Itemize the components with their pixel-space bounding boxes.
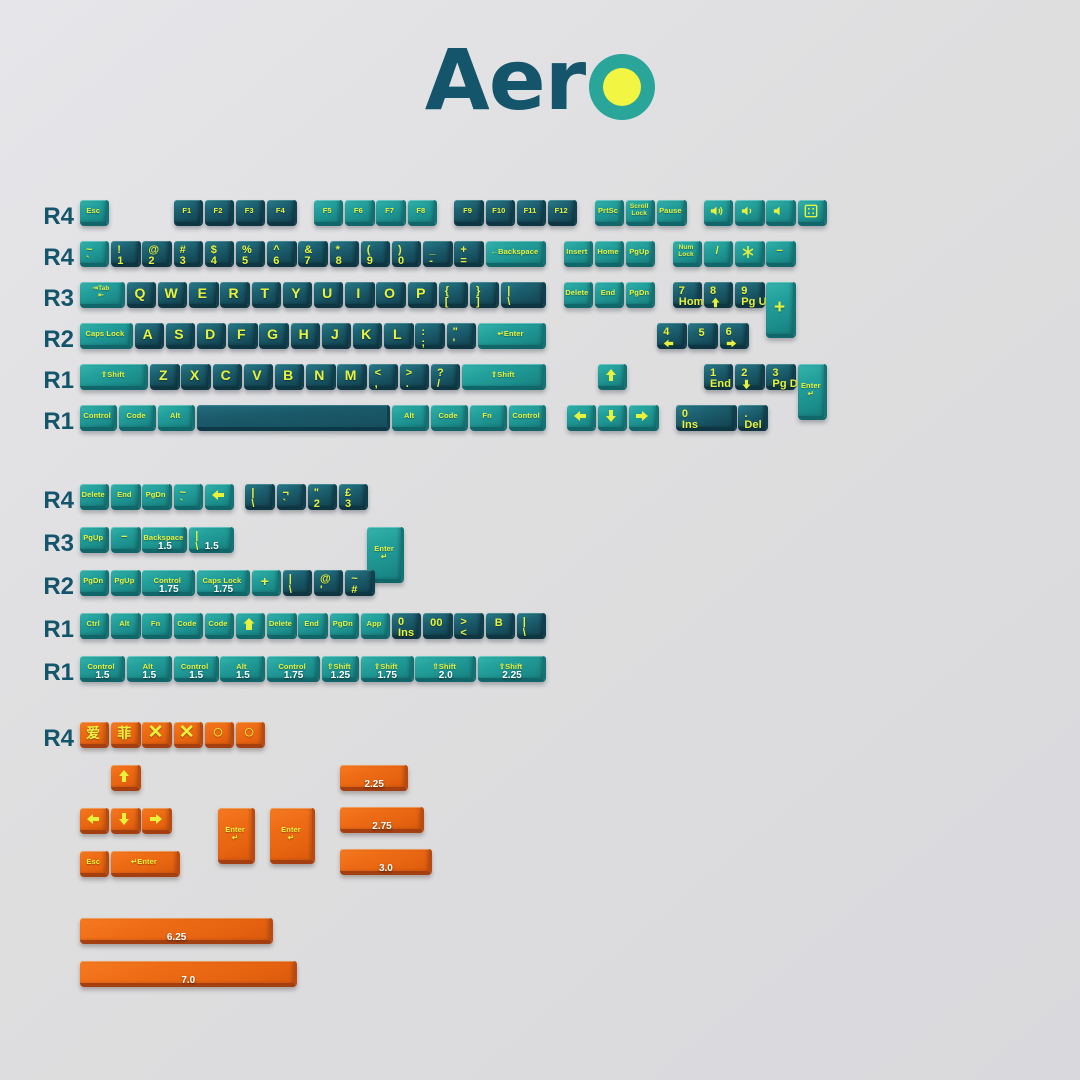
keycap-face: PgDn <box>80 570 109 596</box>
keycap-face: Alt <box>127 656 172 682</box>
key-e[interactable]: E <box>189 282 218 308</box>
key-⇧shift[interactable]: ⇧Shift2.25 <box>478 656 546 682</box>
key-enter-↵[interactable]: Enter↵ <box>798 364 827 420</box>
key-legend: Lock <box>678 252 694 259</box>
key-volume-up[interactable] <box>766 200 795 226</box>
keycap-face: + <box>252 570 281 596</box>
keycap-face: ~# <box>345 570 374 596</box>
keycap-face: 0Ins <box>392 613 421 639</box>
key-f5[interactable]: F5 <box>314 200 343 226</box>
key-fn[interactable]: Fn <box>142 613 171 639</box>
key-6[interactable]: 6 <box>720 323 749 349</box>
key-arrow-right[interactable] <box>142 808 171 834</box>
key-f7[interactable]: F7 <box>376 200 405 226</box>
key-end[interactable]: End <box>595 282 624 308</box>
key-caps-lock[interactable]: Caps Lock1.75 <box>197 570 250 596</box>
key-c[interactable]: C <box>213 364 242 390</box>
key-legend: D <box>205 327 215 341</box>
key-([interactable]: (9 <box>361 241 390 267</box>
key-2[interactable]: 2 <box>735 364 764 390</box>
key-ctrl[interactable]: Ctrl <box>80 613 109 639</box>
key-legend: Control <box>512 412 539 420</box>
keycap-face: Ctrl <box>80 613 109 639</box>
key-1[interactable]: 1End <box>704 364 733 390</box>
key-arrow-left[interactable] <box>80 808 109 834</box>
key-y[interactable]: Y <box>283 282 312 308</box>
key-arrow-left[interactable] <box>567 405 596 431</box>
key-~[interactable]: ~# <box>345 570 374 596</box>
key-{[interactable]: {[ <box>439 282 468 308</box>
key-legend: PgUp <box>114 577 134 585</box>
key-legend: End <box>117 491 131 499</box>
key-l[interactable]: L <box>384 323 413 349</box>
key-calculator[interactable] <box>798 200 827 226</box>
key-~[interactable]: ~` <box>174 484 203 510</box>
key-legend: F <box>237 327 246 341</box>
key-t[interactable]: T <box>252 282 281 308</box>
key-legend: ↵ <box>288 834 294 842</box>
key-9[interactable]: 9Pg Up <box>735 282 764 308</box>
keycap-face <box>236 613 265 639</box>
calculator-icon <box>804 204 818 218</box>
key-w[interactable]: W <box>158 282 187 308</box>
key-legend: Control <box>181 663 208 671</box>
keycap-face <box>629 405 658 431</box>
keycap-face: ←Backspace <box>486 241 547 267</box>
key-legend-bottom: # <box>351 585 366 596</box>
brand-name: Aer <box>425 38 585 122</box>
key-p[interactable]: P <box>408 282 437 308</box>
key-legend: S <box>174 327 183 341</box>
key-legend: PgUp <box>83 534 103 542</box>
key-8[interactable]: 8 <box>704 282 733 308</box>
keycap-face <box>340 765 408 791</box>
shift-up-icon <box>242 617 256 631</box>
keycap-face: (9 <box>361 241 390 267</box>
key-legend: Alt <box>170 412 180 420</box>
keycap-face: |\ <box>245 484 274 510</box>
key-z[interactable]: Z <box>150 364 179 390</box>
key-s[interactable]: S <box>166 323 195 349</box>
key-⇧shift[interactable]: ⇧Shift1.75 <box>361 656 414 682</box>
key-i[interactable]: I <box>345 282 374 308</box>
key-legend-bottom: ` <box>283 499 298 510</box>
key-control[interactable]: Control1.75 <box>142 570 195 596</box>
key-code[interactable]: Code <box>174 613 203 639</box>
key-legend: Z <box>159 368 168 382</box>
key-pgup[interactable]: PgUp <box>111 570 140 596</box>
key->[interactable]: >< <box>454 613 483 639</box>
key-$[interactable]: $4 <box>205 241 234 267</box>
key-|[interactable]: |\ <box>501 282 546 308</box>
key-x[interactable]: X <box>181 364 210 390</box>
keycap-face: ?/ <box>431 364 460 390</box>
keycap-face: _- <box>423 241 452 267</box>
key-esc[interactable]: Esc <box>80 200 109 226</box>
key-菲[interactable]: 菲 <box>111 722 140 748</box>
key-pgdn[interactable]: PgDn <box>80 570 109 596</box>
key-scroll-lock[interactable]: ScrollLock <box>626 200 655 226</box>
key-legend: ←Backspace <box>491 248 539 256</box>
key-alt[interactable]: Alt1.5 <box>127 656 172 682</box>
keycap-face: Q <box>127 282 156 308</box>
key-|[interactable]: |\ <box>245 484 274 510</box>
key-|[interactable]: |\ <box>283 570 312 596</box>
key-esc[interactable]: Esc <box>80 851 109 877</box>
key-&[interactable]: &7 <box>298 241 327 267</box>
key-legend: Lock <box>631 211 647 218</box>
key-blank[interactable]: 3.0 <box>340 849 432 875</box>
key-volume-mute[interactable] <box>704 200 733 226</box>
key-f9[interactable]: F9 <box>454 200 483 226</box>
row-label-r1: R1 <box>28 616 74 644</box>
key-legend-bottom: 0 <box>398 256 413 267</box>
keycap-face: Code <box>174 613 203 639</box>
row-label-r4: R4 <box>28 244 74 272</box>
key-%[interactable]: %5 <box>236 241 265 267</box>
key-0[interactable]: 0Ins <box>392 613 421 639</box>
key-@[interactable]: @' <box>314 570 343 596</box>
keycap-face: PgDn <box>626 282 655 308</box>
keycap-face: Code <box>205 613 234 639</box>
keycap-face: ⇥Tab⇤ <box>80 282 125 308</box>
key-f2[interactable]: F2 <box>205 200 234 226</box>
key-legend: 菲 <box>117 726 131 740</box>
key-control[interactable]: Control <box>80 405 117 431</box>
keycap-face: Alt <box>392 405 429 431</box>
key-alt[interactable]: Alt <box>392 405 429 431</box>
arrow-down-icon <box>604 409 618 423</box>
key-pgup[interactable]: PgUp <box>80 527 109 553</box>
key-legend: U <box>322 286 332 300</box>
key-blank[interactable]: 7.0 <box>80 961 297 987</box>
key-![interactable]: !1 <box>111 241 140 267</box>
key-n[interactable]: N <box>306 364 335 390</box>
key-delete[interactable]: Delete <box>564 282 593 308</box>
keycap-face: V <box>244 364 273 390</box>
keycap-face: Enter↵ <box>798 364 827 420</box>
key-arrow-right[interactable] <box>629 405 658 431</box>
key-b[interactable]: B <box>486 613 515 639</box>
key-blank[interactable] <box>197 405 390 431</box>
keycap-face: D <box>197 323 226 349</box>
key-legend: J <box>331 327 339 341</box>
key-pgdn[interactable]: PgDn <box>330 613 359 639</box>
key-g[interactable]: G <box>259 323 288 349</box>
key-5[interactable]: 5 <box>688 323 717 349</box>
key-enter-↵[interactable]: Enter↵ <box>218 808 255 864</box>
key-legend-bottom: ; <box>421 338 436 349</box>
keycap-face: ^6 <box>267 241 296 267</box>
key-⇧shift[interactable]: ⇧Shift1.25 <box>322 656 359 682</box>
key-爱[interactable]: 爱 <box>80 722 109 748</box>
keycap-face: >. <box>400 364 429 390</box>
key-end[interactable]: End <box>111 484 140 510</box>
key-3[interactable]: 3Pg Dn <box>766 364 795 390</box>
key-blank[interactable]: 2.75 <box>340 807 424 833</box>
arrow-left-icon <box>211 488 225 502</box>
key-○[interactable]: ○ <box>205 722 234 748</box>
keycap-face: Control <box>142 570 195 596</box>
key-←backspace[interactable]: ←Backspace <box>486 241 547 267</box>
key-⇧shift[interactable]: ⇧Shift2.0 <box>415 656 476 682</box>
keycap-face: <, <box>369 364 398 390</box>
key-/[interactable]: / <box>704 241 733 267</box>
keycap-face: ✕ <box>142 722 171 748</box>
key-legend-bottom: ` <box>180 499 195 510</box>
key-legend: PgUp <box>629 248 649 256</box>
keycap-face: >< <box>454 613 483 639</box>
key-f1[interactable]: F1 <box>174 200 203 226</box>
key-q[interactable]: Q <box>127 282 156 308</box>
key-+[interactable]: + <box>252 570 281 596</box>
keycap-face: |\ <box>517 613 546 639</box>
key-legend-bottom: Pg Dn <box>772 379 787 390</box>
key-0[interactable]: 0Ins <box>676 405 737 431</box>
key-a[interactable]: A <box>135 323 164 349</box>
keycap-face: Code <box>119 405 156 431</box>
key-⇧shift[interactable]: ⇧Shift <box>80 364 148 390</box>
key-−[interactable]: − <box>111 527 140 553</box>
key-|[interactable]: |\ <box>517 613 546 639</box>
key-arrow-down[interactable] <box>111 808 140 834</box>
arrow-left-icon <box>86 812 100 826</box>
key-pgdn[interactable]: PgDn <box>142 484 171 510</box>
keycap-face: / <box>704 241 733 267</box>
keycap-face: 7Home <box>673 282 702 308</box>
key-prtsc[interactable]: PrtSc <box>595 200 624 226</box>
keycap-face: F7 <box>376 200 405 226</box>
key-delete[interactable]: Delete <box>80 484 109 510</box>
key-legend: I <box>356 286 360 300</box>
key-legend: Pause <box>659 207 682 215</box>
key-control[interactable]: Control1.75 <box>267 656 320 682</box>
key-legend-bottom: ` <box>86 256 101 267</box>
key-code[interactable]: Code <box>431 405 468 431</box>
key-@[interactable]: @2 <box>142 241 171 267</box>
keycap-face: ⇧Shift <box>322 656 359 682</box>
keycap-face: ↵Enter <box>478 323 546 349</box>
keycap-face: U <box>314 282 343 308</box>
keycap-face: %5 <box>236 241 265 267</box>
key-f8[interactable]: F8 <box>408 200 437 226</box>
key-blank[interactable]: 6.25 <box>80 918 273 944</box>
arrow-left-icon <box>663 338 678 349</box>
key-legend: F12 <box>555 207 568 215</box>
keycap-face: Pause <box>657 200 686 226</box>
key-alt[interactable]: Alt <box>111 613 140 639</box>
keycap-face: F4 <box>267 200 296 226</box>
key-00[interactable]: 00 <box>423 613 452 639</box>
key-.[interactable]: .Del <box>738 405 767 431</box>
key-legend: H <box>299 327 309 341</box>
key-*[interactable]: *8 <box>330 241 359 267</box>
key-m[interactable]: M <box>337 364 366 390</box>
key-enter-↵[interactable]: Enter↵ <box>270 808 315 864</box>
key-end[interactable]: End <box>298 613 327 639</box>
key-num-lock[interactable]: NumLock <box>673 241 702 267</box>
key-~[interactable]: ~` <box>80 241 109 267</box>
key-volume-down[interactable] <box>735 200 764 226</box>
key-asterisk[interactable] <box>735 241 764 267</box>
key-+[interactable]: + <box>766 282 795 338</box>
key-backspace[interactable]: Backspace1.5 <box>142 527 187 553</box>
keycap-face: 00 <box>423 613 452 639</box>
key-−[interactable]: − <box>766 241 795 267</box>
key-legend: 5 <box>698 328 704 339</box>
key-control[interactable]: Control1.5 <box>174 656 219 682</box>
keycap-face: 0Ins <box>676 405 737 431</box>
keycap-face: Y <box>283 282 312 308</box>
key->[interactable]: >. <box>400 364 429 390</box>
keycap-face: Control <box>267 656 320 682</box>
key-u[interactable]: U <box>314 282 343 308</box>
key-⇧shift[interactable]: ⇧Shift <box>462 364 546 390</box>
key-<[interactable]: <, <box>369 364 398 390</box>
logo-dot-core-icon <box>603 68 641 106</box>
row-label-r1: R1 <box>28 408 74 436</box>
key-legend: End <box>304 620 318 628</box>
key-f[interactable]: F <box>228 323 257 349</box>
key-4[interactable]: 4 <box>657 323 686 349</box>
key-?[interactable]: ?/ <box>431 364 460 390</box>
key-app[interactable]: App <box>361 613 390 639</box>
key-d[interactable]: D <box>197 323 226 349</box>
key-7[interactable]: 7Home <box>673 282 702 308</box>
keycap-face: Insert <box>564 241 593 267</box>
key-legend-bottom: Pg Up <box>741 297 756 308</box>
key-caps-lock[interactable]: Caps Lock <box>80 323 133 349</box>
key-legend: F10 <box>492 207 505 215</box>
key-○[interactable]: ○ <box>236 722 265 748</box>
key-insert[interactable]: Insert <box>564 241 593 267</box>
key-f10[interactable]: F10 <box>486 200 515 226</box>
key-legend: N <box>314 368 324 382</box>
key-f11[interactable]: F11 <box>517 200 546 226</box>
key-j[interactable]: J <box>322 323 351 349</box>
key-⇥tab-⇤[interactable]: ⇥Tab⇤ <box>80 282 125 308</box>
key-f3[interactable]: F3 <box>236 200 265 226</box>
key-r[interactable]: R <box>220 282 249 308</box>
keycap-face: ~` <box>174 484 203 510</box>
key-code[interactable]: Code <box>205 613 234 639</box>
key-arrow-up[interactable] <box>598 364 627 390</box>
key-legend: ○ <box>212 723 224 742</box>
keycap-face: PgUp <box>111 570 140 596</box>
key-legend: Q <box>134 286 145 300</box>
key-legend: M <box>345 368 357 382</box>
key-h[interactable]: H <box>291 323 320 349</box>
key-:[interactable]: :; <box>415 323 444 349</box>
keycap-face: Enter↵ <box>218 808 255 864</box>
key-)[interactable]: )0 <box>392 241 421 267</box>
key-legend: Delete <box>565 289 588 297</box>
key-}[interactable]: }] <box>470 282 499 308</box>
keycap-face: PgUp <box>626 241 655 267</box>
key-"[interactable]: "' <box>447 323 476 349</box>
key-control[interactable]: Control1.5 <box>80 656 125 682</box>
keycap-face: += <box>454 241 483 267</box>
key-legend-top: | <box>507 286 538 297</box>
keycap-face: End <box>298 613 327 639</box>
key-blank[interactable]: 2.25 <box>340 765 408 791</box>
key-arrow-left[interactable] <box>205 484 234 510</box>
key-↵enter[interactable]: ↵Enter <box>478 323 546 349</box>
key-pause[interactable]: Pause <box>657 200 686 226</box>
key-legend: ✕ <box>179 723 195 742</box>
key-✕[interactable]: ✕ <box>142 722 171 748</box>
keycap-face: K <box>353 323 382 349</box>
key-pgdn[interactable]: PgDn <box>626 282 655 308</box>
key-arrow-down[interactable] <box>598 405 627 431</box>
keycap-face: )0 <box>392 241 421 267</box>
key-alt[interactable]: Alt1.5 <box>220 656 265 682</box>
key-alt[interactable]: Alt <box>158 405 195 431</box>
keycap-face: N <box>306 364 335 390</box>
keycap-face: I <box>345 282 374 308</box>
key-delete[interactable]: Delete <box>267 613 296 639</box>
key-legend: + <box>774 298 785 317</box>
key-legend: Code <box>127 412 146 420</box>
key-k[interactable]: K <box>353 323 382 349</box>
key-f12[interactable]: F12 <box>548 200 577 226</box>
key-o[interactable]: O <box>376 282 405 308</box>
key-✕[interactable]: ✕ <box>174 722 203 748</box>
keycap-face <box>205 484 234 510</box>
key-arrow-up[interactable] <box>111 765 140 791</box>
key-|[interactable]: |\1.5 <box>189 527 234 553</box>
key-"[interactable]: "2 <box>308 484 337 510</box>
keycap-face: 3Pg Dn <box>766 364 795 390</box>
key-f4[interactable]: F4 <box>267 200 296 226</box>
keycap-face: #3 <box>174 241 203 267</box>
keycap-face: Control <box>509 405 546 431</box>
arrow-down-icon <box>741 379 756 390</box>
key-↵enter[interactable]: ↵Enter <box>111 851 179 877</box>
key-#[interactable]: #3 <box>174 241 203 267</box>
keycap-face: F10 <box>486 200 515 226</box>
key-¬[interactable]: ¬` <box>277 484 306 510</box>
key-legend-bottom: 3 <box>180 256 195 267</box>
row-label-r4: R4 <box>28 725 74 753</box>
key-home[interactable]: Home <box>595 241 624 267</box>
key-legend-bottom: \ <box>289 585 304 596</box>
key-shift-up[interactable] <box>236 613 265 639</box>
keycap-face: "2 <box>308 484 337 510</box>
row-label-r4: R4 <box>28 203 74 231</box>
key-code[interactable]: Code <box>119 405 156 431</box>
key-legend: K <box>361 327 371 341</box>
keycap-face <box>598 405 627 431</box>
key-f6[interactable]: F6 <box>345 200 374 226</box>
key-fn[interactable]: Fn <box>470 405 507 431</box>
key-+[interactable]: += <box>454 241 483 267</box>
row-label-r2: R2 <box>28 326 74 354</box>
key-£[interactable]: £3 <box>339 484 368 510</box>
key-_[interactable]: _- <box>423 241 452 267</box>
keycap-face: Alt <box>158 405 195 431</box>
key-v[interactable]: V <box>244 364 273 390</box>
key-legend-bottom: 9 <box>367 256 382 267</box>
keycap-face <box>798 200 827 226</box>
keycap-face: Caps Lock <box>197 570 250 596</box>
key-control[interactable]: Control <box>509 405 546 431</box>
key-b[interactable]: B <box>275 364 304 390</box>
key-legend: ↵ <box>381 553 387 561</box>
volume-up-icon <box>771 204 789 218</box>
key-^[interactable]: ^6 <box>267 241 296 267</box>
key-pgup[interactable]: PgUp <box>626 241 655 267</box>
